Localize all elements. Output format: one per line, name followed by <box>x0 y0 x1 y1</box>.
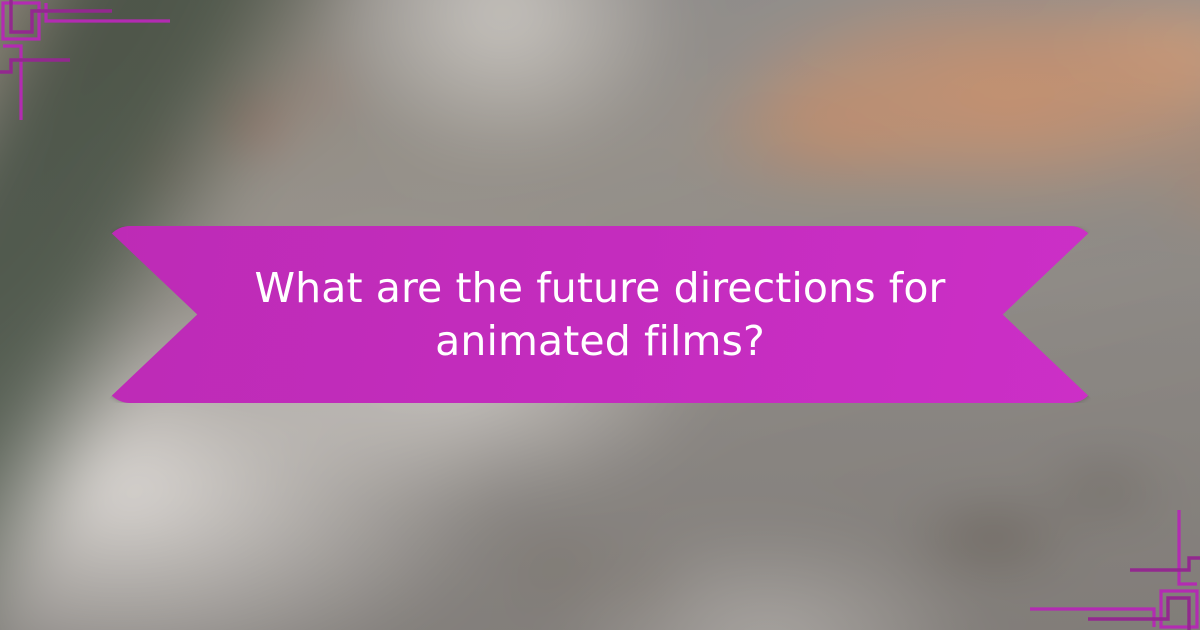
headline-ribbon: What are the future directions for anima… <box>104 226 1096 403</box>
top-left-bracket-decoration <box>0 0 170 170</box>
bracket-icon <box>0 0 170 170</box>
headline-ribbon-content: What are the future directions for anima… <box>220 262 980 367</box>
page-title: What are the future directions for anima… <box>230 262 970 367</box>
bracket-icon <box>1030 460 1200 630</box>
bottom-right-bracket-decoration <box>1030 460 1200 630</box>
share-card: What are the future directions for anima… <box>0 0 1200 630</box>
